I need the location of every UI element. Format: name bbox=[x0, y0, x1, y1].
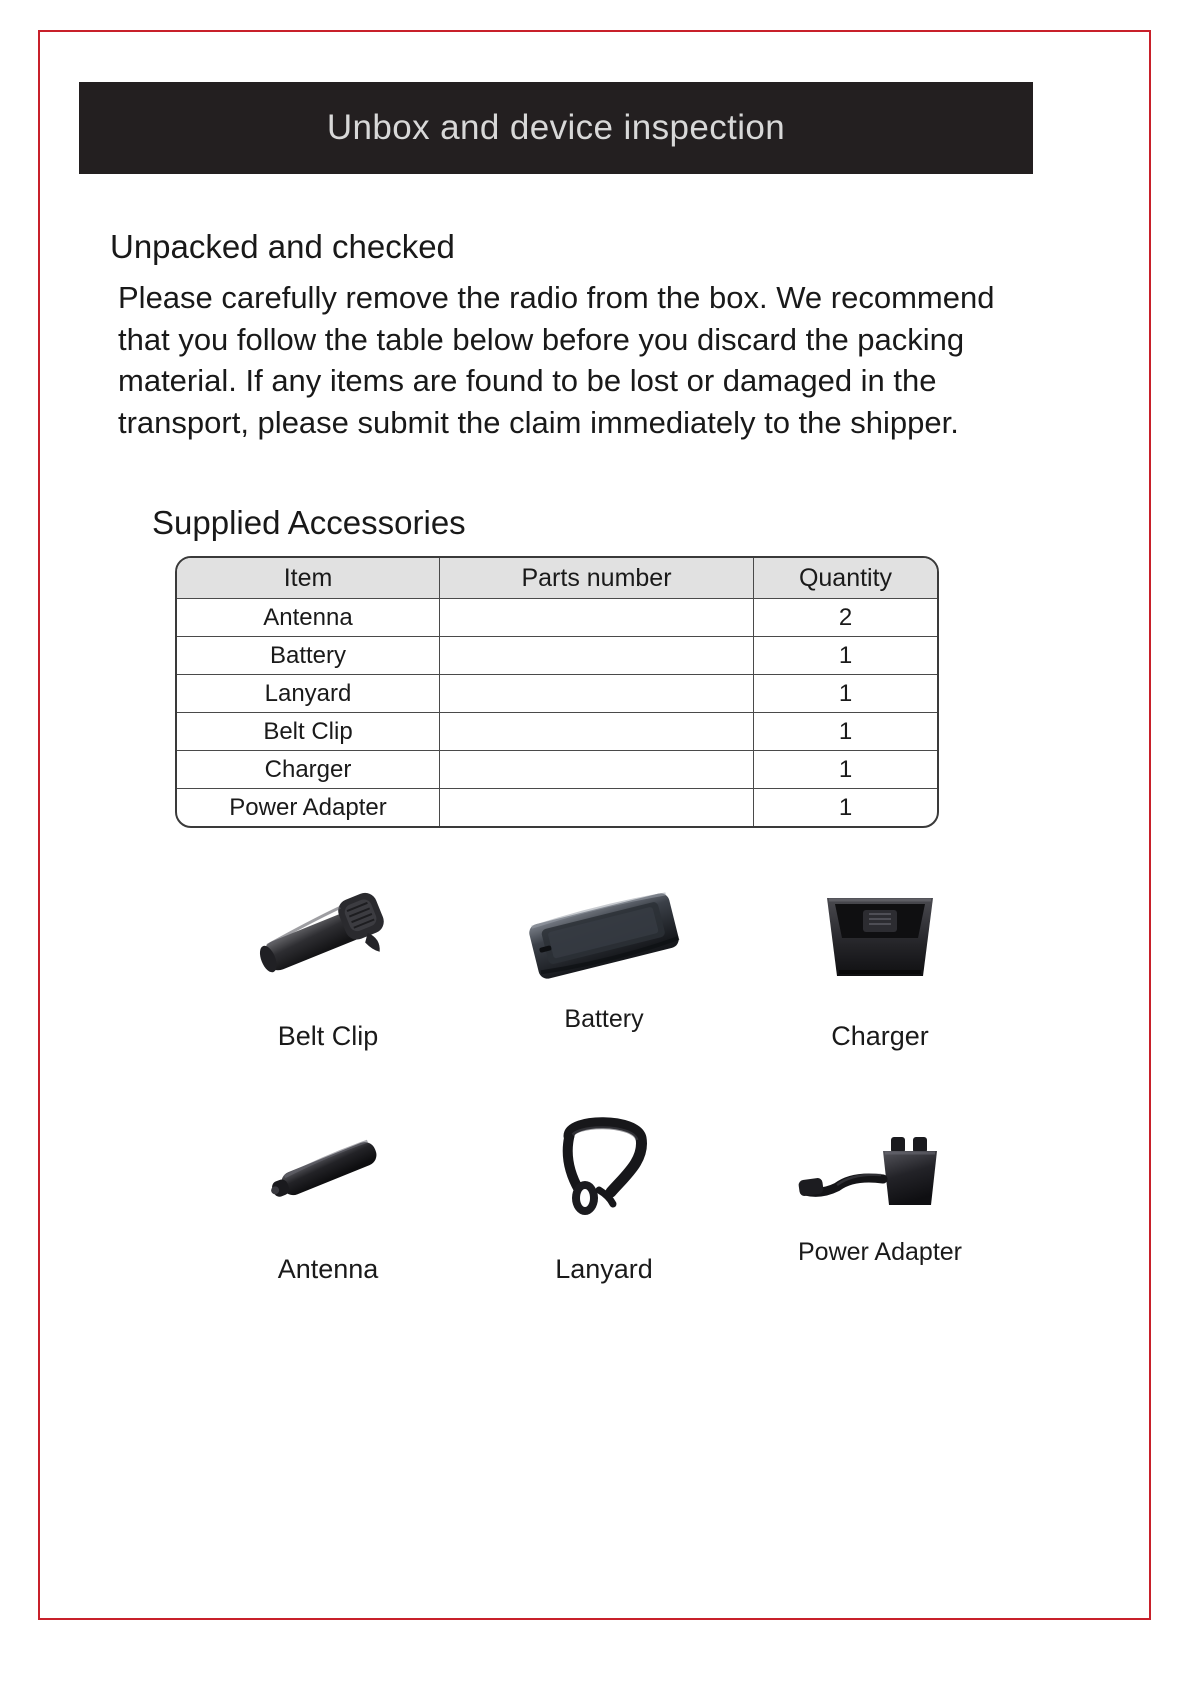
accessory-caption: Antenna bbox=[278, 1228, 379, 1285]
banner-title: Unbox and device inspection bbox=[327, 108, 785, 148]
cell-item: Power Adapter bbox=[177, 789, 440, 827]
accessory-item-charger: Charger bbox=[742, 877, 1018, 1052]
page-banner: Unbox and device inspection bbox=[79, 82, 1033, 174]
column-header-parts: Parts number bbox=[440, 558, 754, 599]
battery-photo bbox=[466, 877, 742, 995]
lanyard-photo bbox=[466, 1110, 742, 1228]
cell-item: Battery bbox=[177, 637, 440, 675]
accessory-caption: Charger bbox=[831, 995, 929, 1052]
photo-row-spacer bbox=[190, 1052, 1020, 1110]
cell-parts bbox=[440, 789, 754, 827]
charger-cradle-photo bbox=[742, 877, 1018, 995]
cell-qty: 1 bbox=[754, 789, 938, 827]
accessory-item-belt-clip: Belt Clip bbox=[190, 877, 466, 1052]
cell-item: Antenna bbox=[177, 599, 440, 637]
column-header-qty: Quantity bbox=[754, 558, 938, 599]
cell-parts bbox=[440, 599, 754, 637]
column-header-item: Item bbox=[177, 558, 440, 599]
cell-qty: 1 bbox=[754, 637, 938, 675]
accessory-item-antenna: Antenna bbox=[190, 1110, 466, 1285]
accessory-caption: Power Adapter bbox=[798, 1228, 962, 1267]
table-row: Power Adapter 1 bbox=[177, 789, 937, 827]
cell-qty: 1 bbox=[754, 751, 938, 789]
cell-qty: 1 bbox=[754, 675, 938, 713]
table-row: Battery 1 bbox=[177, 637, 937, 675]
accessories-heading: Supplied Accessories bbox=[152, 504, 466, 542]
accessory-photo-grid: Belt Clip bbox=[190, 877, 1020, 1285]
table-row: Lanyard 1 bbox=[177, 675, 937, 713]
cell-qty: 2 bbox=[754, 599, 938, 637]
section-paragraph: Please carefully remove the radio from t… bbox=[118, 277, 1013, 443]
cell-parts bbox=[440, 713, 754, 751]
cell-item: Lanyard bbox=[177, 675, 440, 713]
belt-clip-photo bbox=[190, 877, 466, 995]
cell-parts bbox=[440, 675, 754, 713]
accessory-caption: Lanyard bbox=[555, 1228, 653, 1285]
document-page: Unbox and device inspection Unpacked and… bbox=[38, 30, 1151, 1620]
accessory-item-power-adapter: Power Adapter bbox=[742, 1110, 1018, 1285]
cell-parts bbox=[440, 751, 754, 789]
cell-item: Charger bbox=[177, 751, 440, 789]
section-heading: Unpacked and checked bbox=[110, 228, 455, 266]
table-row: Belt Clip 1 bbox=[177, 713, 937, 751]
power-adapter-photo bbox=[742, 1110, 1018, 1228]
antenna-photo bbox=[190, 1110, 466, 1228]
table-row: Antenna 2 bbox=[177, 599, 937, 637]
table-header-row: Item Parts number Quantity bbox=[177, 558, 937, 599]
cell-parts bbox=[440, 637, 754, 675]
accessory-photo-row-1: Belt Clip bbox=[190, 877, 1020, 1052]
accessory-caption: Battery bbox=[564, 995, 643, 1034]
accessory-photo-row-2: Antenna Lanyard bbox=[190, 1110, 1020, 1285]
accessory-caption: Belt Clip bbox=[278, 995, 379, 1052]
supplied-accessories-table: Item Parts number Quantity Antenna 2 Bat… bbox=[175, 556, 939, 828]
cell-item: Belt Clip bbox=[177, 713, 440, 751]
cell-qty: 1 bbox=[754, 713, 938, 751]
accessory-item-lanyard: Lanyard bbox=[466, 1110, 742, 1285]
accessory-item-battery: Battery bbox=[466, 877, 742, 1052]
table-row: Charger 1 bbox=[177, 751, 937, 789]
